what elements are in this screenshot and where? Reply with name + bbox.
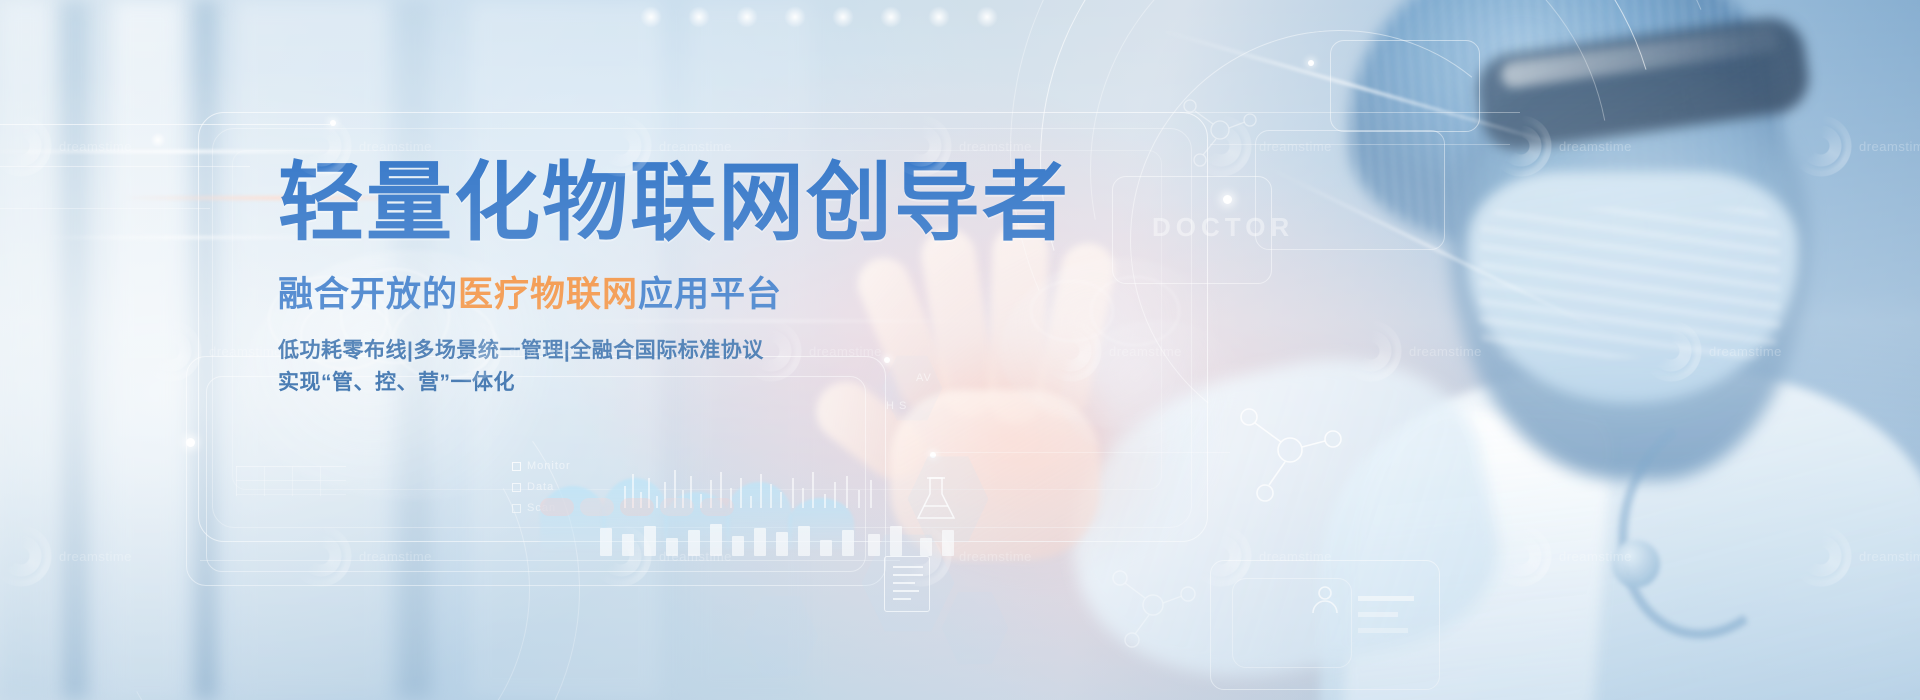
watermark-label: dreamstime <box>359 549 432 564</box>
watermark-item: dreamstime <box>1490 115 1632 177</box>
watermark-spiral-icon <box>590 525 652 587</box>
watermark-item: dreamstime <box>440 320 582 382</box>
watermark-label: dreamstime <box>1859 139 1920 154</box>
watermark-spiral-icon <box>1790 525 1852 587</box>
watermark-item: dreamstime <box>1790 525 1920 587</box>
watermark-item: dreamstime <box>140 320 282 382</box>
watermark-item: dreamstime <box>1640 320 1782 382</box>
watermark-spiral-icon <box>1490 525 1552 587</box>
watermark-item: dreamstime <box>890 525 1032 587</box>
watermark-spiral-icon <box>740 320 802 382</box>
watermark-label: dreamstime <box>1409 344 1482 359</box>
watermark-label: dreamstime <box>1709 344 1782 359</box>
watermark-spiral-icon <box>1190 525 1252 587</box>
watermark-item: dreamstime <box>1340 320 1482 382</box>
watermark-spiral-icon <box>290 115 352 177</box>
watermark-item: dreamstime <box>740 320 882 382</box>
watermark-label: dreamstime <box>359 139 432 154</box>
watermark-label: dreamstime <box>959 549 1032 564</box>
watermark-item: dreamstime <box>1190 525 1332 587</box>
banner-stage: H S AV DOCTOR Monitor Data <box>0 0 1920 700</box>
watermark-spiral-icon <box>890 115 952 177</box>
watermark-spiral-icon <box>1340 320 1402 382</box>
watermark-spiral-icon <box>890 525 952 587</box>
watermark-item: dreamstime <box>1190 115 1332 177</box>
watermark-spiral-icon <box>1640 320 1702 382</box>
watermark-label: dreamstime <box>59 549 132 564</box>
watermark-item: dreamstime <box>290 525 432 587</box>
watermark-item: dreamstime <box>290 115 432 177</box>
watermark-spiral-icon <box>1040 320 1102 382</box>
watermark-label: dreamstime <box>959 139 1032 154</box>
watermark-spiral-icon <box>1490 115 1552 177</box>
watermark-layer: dreamstimedreamstimedreamstimedreamstime… <box>0 0 1920 700</box>
watermark-label: dreamstime <box>1559 139 1632 154</box>
watermark-label: dreamstime <box>809 344 882 359</box>
watermark-label: dreamstime <box>1109 344 1182 359</box>
watermark-item: dreamstime <box>0 115 132 177</box>
watermark-spiral-icon <box>290 525 352 587</box>
watermark-spiral-icon <box>590 115 652 177</box>
watermark-item: dreamstime <box>1790 115 1920 177</box>
watermark-spiral-icon <box>440 320 502 382</box>
watermark-label: dreamstime <box>509 344 582 359</box>
watermark-label: dreamstime <box>1859 549 1920 564</box>
watermark-spiral-icon <box>1790 115 1852 177</box>
watermark-item: dreamstime <box>1490 525 1632 587</box>
watermark-label: dreamstime <box>209 344 282 359</box>
watermark-label: dreamstime <box>659 549 732 564</box>
watermark-spiral-icon <box>1190 115 1252 177</box>
watermark-label: dreamstime <box>59 139 132 154</box>
watermark-item: dreamstime <box>590 115 732 177</box>
watermark-label: dreamstime <box>1259 549 1332 564</box>
watermark-item: dreamstime <box>590 525 732 587</box>
watermark-label: dreamstime <box>659 139 732 154</box>
watermark-item: dreamstime <box>0 525 132 587</box>
watermark-label: dreamstime <box>1259 139 1332 154</box>
watermark-label: dreamstime <box>1559 549 1632 564</box>
watermark-item: dreamstime <box>1040 320 1182 382</box>
watermark-spiral-icon <box>0 115 52 177</box>
watermark-spiral-icon <box>0 525 52 587</box>
watermark-spiral-icon <box>140 320 202 382</box>
watermark-item: dreamstime <box>890 115 1032 177</box>
